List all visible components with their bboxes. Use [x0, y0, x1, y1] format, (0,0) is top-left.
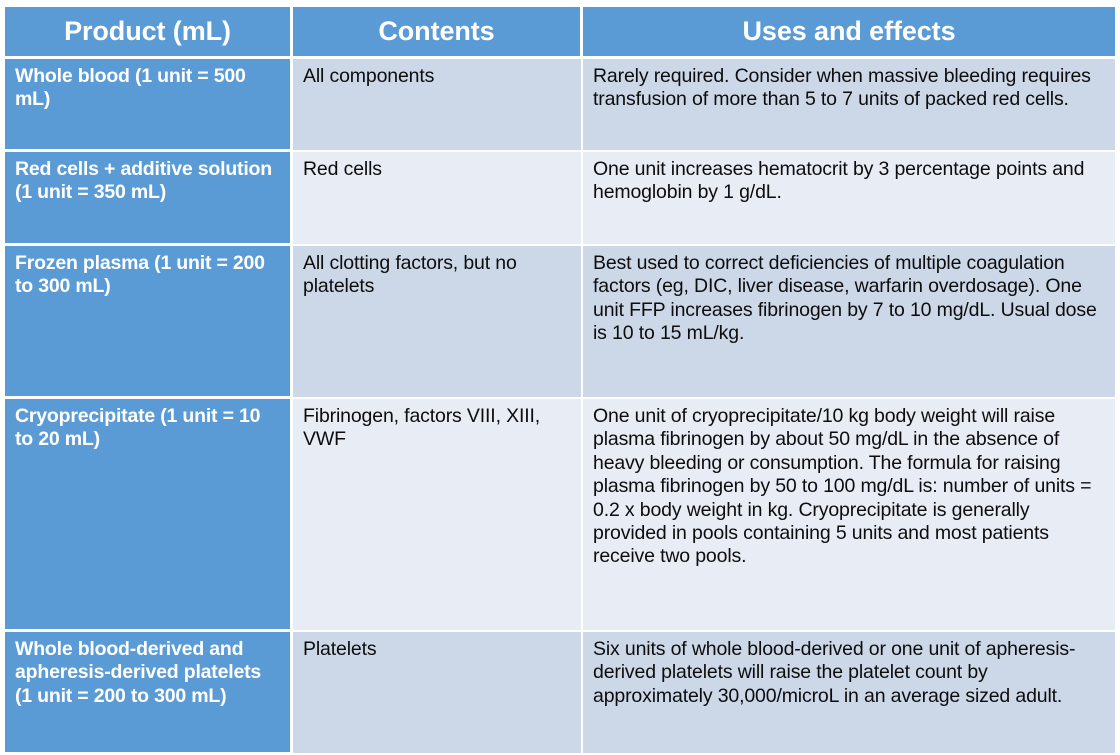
cell-product: Cryoprecipitate (1 unit = 10 to 20 mL) [5, 399, 293, 632]
cell-product: Frozen plasma (1 unit = 200 to 300 mL) [5, 246, 293, 399]
cell-contents: All clotting factors, but no platelets [293, 246, 583, 399]
cell-uses: One unit increases hematocrit by 3 perce… [583, 152, 1115, 246]
table-body: Whole blood (1 unit = 500 mL) All compon… [5, 59, 1115, 755]
table-row: Frozen plasma (1 unit = 200 to 300 mL) A… [5, 246, 1115, 399]
column-header-uses-and-effects: Uses and effects [583, 7, 1115, 59]
table-header-row: Product (mL) Contents Uses and effects [5, 7, 1115, 59]
cell-contents: Fibrinogen, factors VIII, XIII, VWF [293, 399, 583, 632]
table-header: Product (mL) Contents Uses and effects [5, 7, 1115, 59]
cell-uses: One unit of cryoprecipitate/10 kg body w… [583, 399, 1115, 632]
table-row: Red cells + additive solution (1 unit = … [5, 152, 1115, 246]
cell-contents: Platelets [293, 632, 583, 755]
table-row: Whole blood-derived and apheresis-derive… [5, 632, 1115, 755]
cell-product: Whole blood-derived and apheresis-derive… [5, 632, 293, 755]
cell-contents: All components [293, 59, 583, 152]
cell-uses: Rarely required. Consider when massive b… [583, 59, 1115, 152]
table-row: Whole blood (1 unit = 500 mL) All compon… [5, 59, 1115, 152]
blood-products-table-container: Product (mL) Contents Uses and effects W… [5, 7, 1115, 701]
cell-product: Whole blood (1 unit = 500 mL) [5, 59, 293, 152]
column-header-product: Product (mL) [5, 7, 293, 59]
blood-products-table: Product (mL) Contents Uses and effects W… [5, 7, 1115, 755]
column-header-contents: Contents [293, 7, 583, 59]
cell-uses: Six units of whole blood-derived or one … [583, 632, 1115, 755]
cell-contents: Red cells [293, 152, 583, 246]
cell-product: Red cells + additive solution (1 unit = … [5, 152, 293, 246]
cell-uses: Best used to correct deficiencies of mul… [583, 246, 1115, 399]
table-row: Cryoprecipitate (1 unit = 10 to 20 mL) F… [5, 399, 1115, 632]
